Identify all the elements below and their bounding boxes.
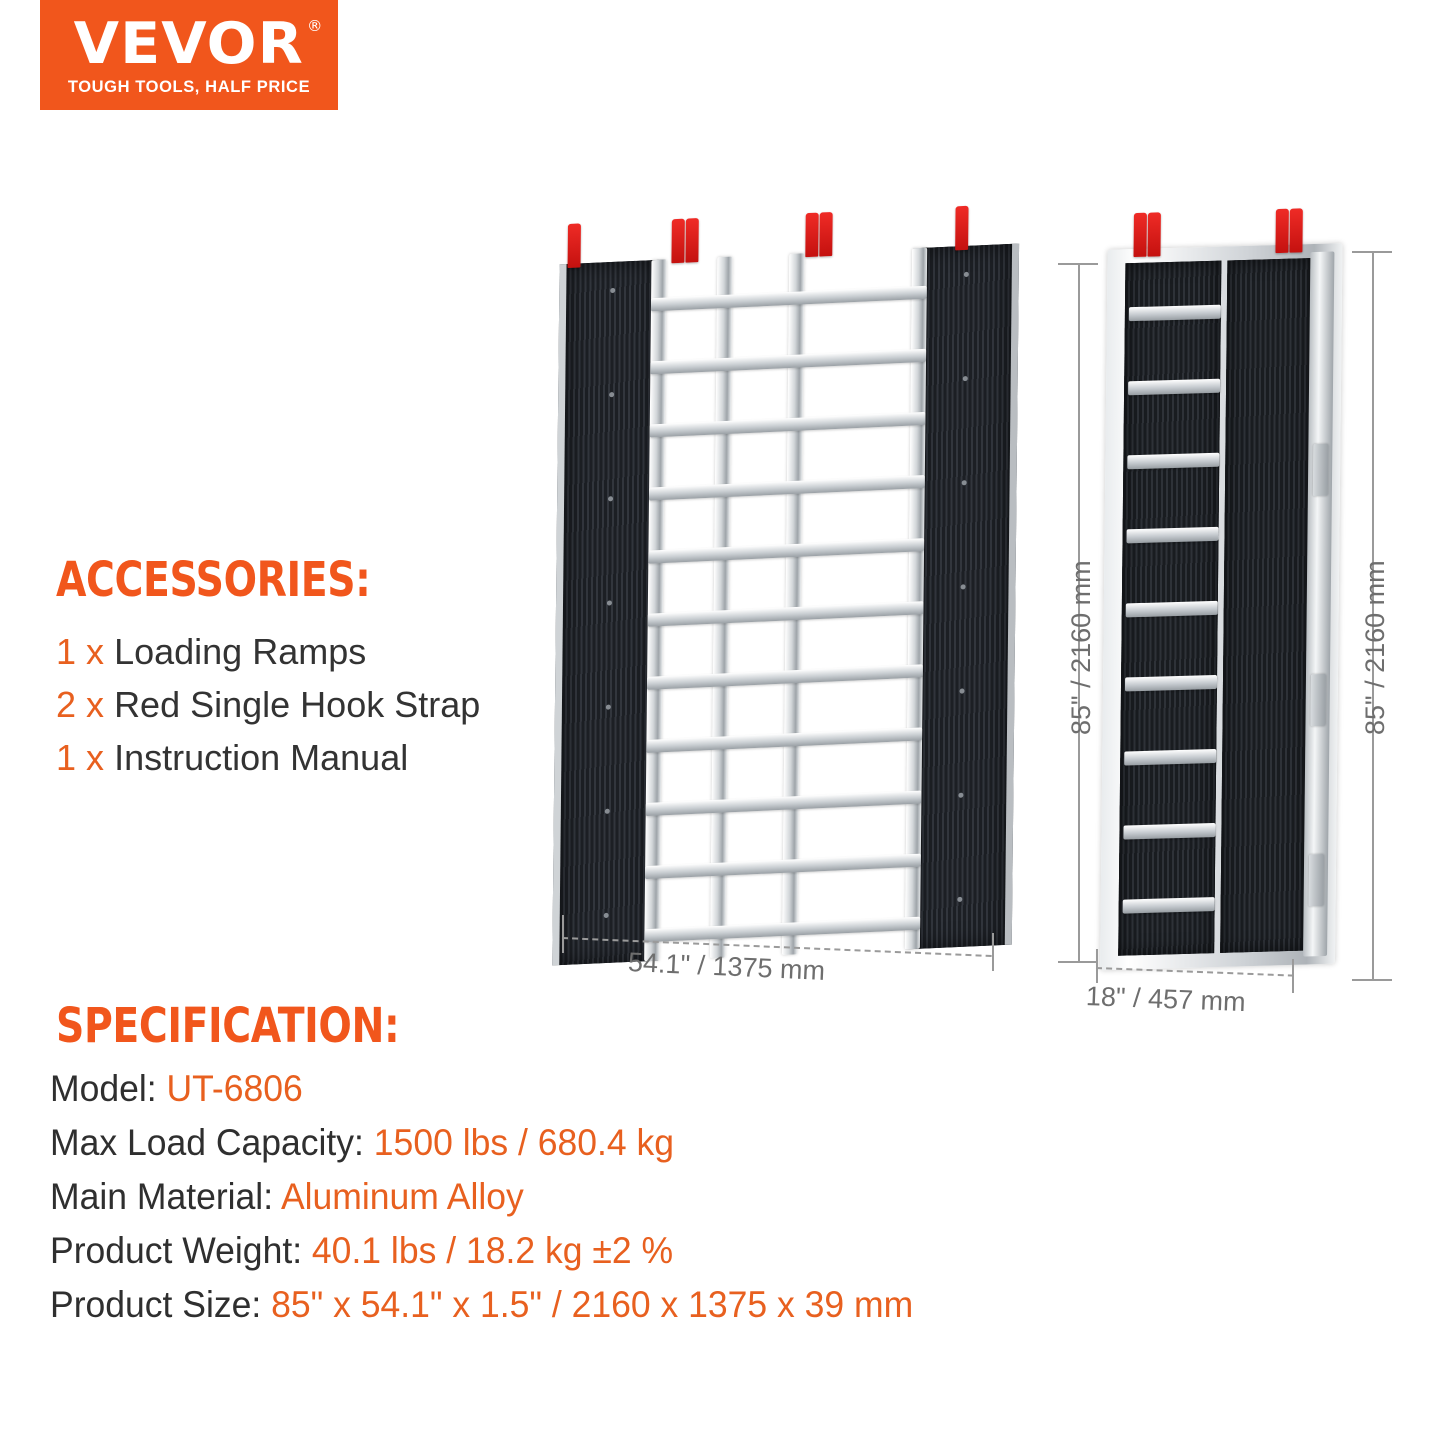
accessory-qty: 1	[56, 737, 76, 778]
rivet-icon	[610, 288, 615, 293]
accessory-qty: 1	[56, 631, 76, 672]
folded-rung	[1127, 527, 1219, 544]
specification-list: Model: UT-6806 Max Load Capacity: 1500 l…	[50, 1062, 1170, 1332]
list-item: 1 x Instruction Manual	[56, 731, 776, 784]
accessories-list: 1 x Loading Ramps 2 x Red Single Hook St…	[56, 625, 776, 784]
spec-value: UT-6806	[166, 1068, 302, 1109]
ramp-unfolded-view	[552, 244, 1019, 966]
specification-heading: SPECIFICATION:	[56, 998, 399, 1054]
dimension-label-folded-depth: 18" / 457 mm	[1085, 981, 1246, 1018]
ramp-folded-view	[1100, 243, 1342, 970]
folded-rung	[1126, 601, 1218, 618]
spec-value: Aluminum Alloy	[281, 1176, 524, 1217]
accessory-multiplier: x	[86, 737, 104, 778]
folded-rung	[1128, 379, 1220, 396]
accessories-heading: ACCESSORIES:	[56, 552, 371, 608]
hinge-icon	[1313, 444, 1329, 496]
spec-value: 1500 lbs / 680.4 kg	[374, 1122, 674, 1163]
red-hook-strap-icon	[685, 218, 698, 263]
rivet-icon	[963, 376, 968, 381]
red-hook-strap-icon	[1289, 208, 1302, 252]
rivet-icon	[608, 496, 613, 501]
spec-row: Max Load Capacity: 1500 lbs / 680.4 kg	[50, 1116, 1125, 1170]
accessory-multiplier: x	[86, 631, 104, 672]
spec-label: Model:	[50, 1068, 166, 1109]
dimension-tick	[992, 933, 994, 971]
rivet-icon	[959, 688, 964, 693]
rivet-icon	[605, 809, 610, 814]
vevor-logo: VEVOR® TOUGH TOOLS, HALF PRICE	[40, 0, 338, 110]
folded-rung	[1125, 675, 1217, 692]
red-hook-strap-icon	[1133, 213, 1146, 257]
spec-row: Product Weight: 40.1 lbs / 18.2 kg ±2 %	[50, 1224, 1125, 1278]
accessory-name: Instruction Manual	[114, 737, 408, 778]
red-hook-strap-icon	[955, 206, 968, 251]
spec-row: Product Size: 85" x 54.1" x 1.5" / 2160 …	[50, 1278, 1125, 1332]
spec-label: Main Material:	[50, 1176, 281, 1217]
accessory-name: Red Single Hook Strap	[114, 684, 480, 725]
hinge-icon	[1310, 674, 1326, 726]
folded-rung	[1123, 823, 1215, 840]
red-hook-strap-icon	[1275, 209, 1288, 253]
dimension-tick	[1292, 959, 1294, 993]
brand-wordmark: VEVOR®	[74, 17, 304, 71]
red-hook-strap-icon	[1147, 212, 1160, 256]
rivet-icon	[962, 480, 967, 485]
accessory-name: Loading Ramps	[114, 631, 366, 672]
folded-tread-panel-front	[1220, 258, 1313, 953]
list-item: 2 x Red Single Hook Strap	[56, 678, 776, 731]
spec-row: Main Material: Aluminum Alloy	[50, 1170, 1125, 1224]
dimension-label-open-height: 85" / 2160 mm	[1066, 560, 1097, 735]
spec-label: Product Weight:	[50, 1230, 312, 1271]
dimension-tick	[562, 915, 564, 953]
rivet-icon	[607, 600, 612, 605]
red-hook-strap-icon	[568, 223, 581, 268]
dimension-cap	[1352, 251, 1392, 253]
folded-rung	[1124, 749, 1216, 766]
rivet-icon	[961, 584, 966, 589]
spec-value: 40.1 lbs / 18.2 kg ±2 %	[312, 1230, 673, 1271]
registered-mark-icon: ®	[307, 19, 323, 34]
red-hook-strap-icon	[805, 213, 818, 258]
folded-rung	[1127, 453, 1219, 470]
rivet-icon	[604, 913, 609, 918]
dimension-line-folded-depth	[1096, 967, 1294, 977]
red-hook-strap-icon	[671, 219, 684, 264]
dimension-cap	[1352, 979, 1392, 981]
spec-row: Model: UT-6806	[50, 1062, 1125, 1116]
rivet-icon	[958, 793, 963, 798]
brand-tagline: TOUGH TOOLS, HALF PRICE	[68, 78, 310, 97]
dimension-tick	[1096, 949, 1098, 983]
spec-label: Product Size:	[50, 1284, 271, 1325]
folded-rung	[1129, 305, 1221, 322]
spec-value: 85" x 54.1" x 1.5" / 2160 x 1375 x 39 mm	[271, 1284, 913, 1325]
accessory-qty: 2	[56, 684, 76, 725]
rivet-icon	[957, 897, 962, 902]
folded-rung	[1123, 897, 1215, 914]
product-spec-page: VEVOR® TOUGH TOOLS, HALF PRICE	[0, 0, 1445, 1445]
rivet-icon	[609, 392, 614, 397]
dimension-cap	[1058, 263, 1098, 265]
spec-label: Max Load Capacity:	[50, 1122, 374, 1163]
dimension-cap	[1058, 961, 1098, 963]
accessory-multiplier: x	[86, 684, 104, 725]
rivet-icon	[964, 272, 969, 277]
red-hook-strap-icon	[819, 212, 832, 257]
brand-name: VEVOR	[74, 11, 304, 77]
ramp-ladder-frame	[644, 248, 927, 962]
list-item: 1 x Loading Ramps	[56, 625, 776, 678]
dimension-label-folded-height: 85" / 2160 mm	[1360, 560, 1391, 735]
hinge-icon	[1309, 854, 1325, 906]
